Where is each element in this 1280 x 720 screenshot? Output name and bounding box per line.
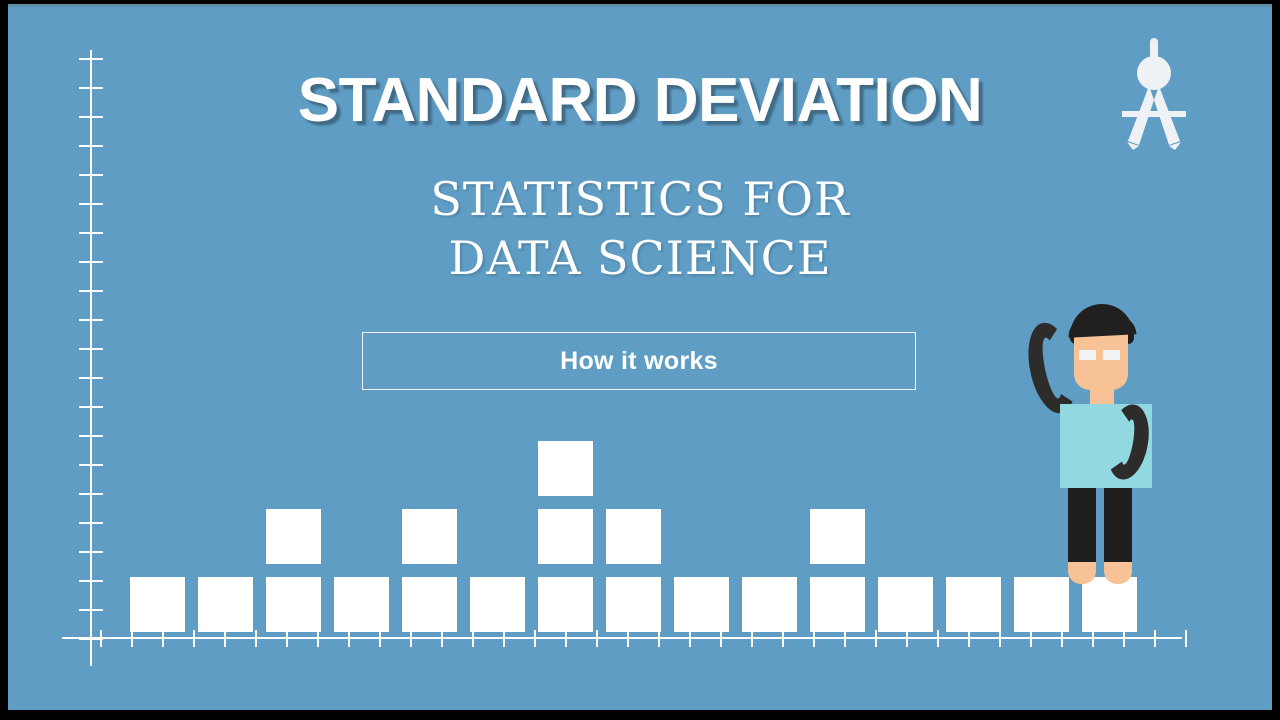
x-axis-tick [968,630,970,647]
y-axis-line [90,50,92,666]
x-axis-tick [875,630,877,647]
histogram-unit-block [470,577,525,632]
page-title: STANDARD DEVIATION [8,70,1272,132]
eye-right [1103,350,1120,360]
x-axis-tick [1185,630,1187,647]
histogram-unit-block [402,509,457,564]
x-axis-tick [1123,630,1125,647]
how-it-works-box[interactable]: How it works [362,332,916,390]
x-axis-tick [317,630,319,647]
x-axis-tick [472,630,474,647]
y-axis-tick [79,522,103,524]
x-axis-tick [999,630,1001,647]
x-axis-tick [689,630,691,647]
subtitle-line-1: STATISTICS FOR [8,170,1272,229]
letterbox-top [0,0,1280,4]
leg-right [1104,484,1132,566]
y-axis-tick [79,290,103,292]
histogram-unit-block [538,441,593,496]
x-axis-tick [100,630,102,647]
letterbox-right [1272,0,1280,720]
x-axis-tick [441,630,443,647]
histogram-unit-block [810,577,865,632]
y-axis-tick [79,464,103,466]
x-axis-tick [937,630,939,647]
foot-left [1068,562,1096,584]
histogram-unit-block [878,577,933,632]
histogram-unit-block [606,577,661,632]
slide-canvas: STANDARD DEVIATION STATISTICS FOR DATA S… [8,4,1272,710]
x-axis-tick [627,630,629,647]
x-axis-tick [286,630,288,647]
y-axis-tick [79,551,103,553]
x-axis-tick [844,630,846,647]
histogram-unit-block [606,509,661,564]
x-axis-tick [906,630,908,647]
x-axis-tick [1092,630,1094,647]
x-axis-tick [1154,630,1156,647]
x-axis-tick [503,630,505,647]
y-axis-tick [79,58,103,60]
x-axis-tick [348,630,350,647]
x-axis-tick [720,630,722,647]
subtitle-line-2: DATA SCIENCE [8,229,1272,288]
histogram-unit-block [266,509,321,564]
y-axis-tick [79,609,103,611]
x-axis-tick [596,630,598,647]
y-axis-tick [79,493,103,495]
x-axis-tick [131,630,133,647]
y-axis-tick [79,435,103,437]
x-axis-tick [658,630,660,647]
x-axis-tick [162,630,164,647]
letterbox-left [0,0,8,720]
leg-left [1068,484,1096,566]
y-axis-tick [79,377,103,379]
x-axis-tick [782,630,784,647]
x-axis-tick [534,630,536,647]
standing-person-illustration [1024,304,1184,584]
x-axis-tick [255,630,257,647]
x-axis-tick [813,630,815,647]
x-axis-line [62,637,1182,639]
histogram-unit-block [742,577,797,632]
x-axis-tick [224,630,226,647]
x-axis-tick [410,630,412,647]
histogram-unit-block [810,509,865,564]
eye-left [1079,350,1096,360]
x-axis-tick [379,630,381,647]
y-axis-tick [79,580,103,582]
histogram-unit-block [130,577,185,632]
foot-right [1104,562,1132,584]
histogram-unit-block [946,577,1001,632]
x-axis-tick [1030,630,1032,647]
x-axis-tick [1061,630,1063,647]
y-axis-tick [79,406,103,408]
video-slide-frame: STANDARD DEVIATION STATISTICS FOR DATA S… [0,0,1280,720]
histogram-unit-block [198,577,253,632]
how-it-works-label: How it works [560,347,718,376]
x-axis-tick [193,630,195,647]
histogram-unit-block [538,577,593,632]
y-axis-tick [79,348,103,350]
subtitle: STATISTICS FOR DATA SCIENCE [8,170,1272,288]
x-axis-tick [565,630,567,647]
histogram-unit-block [334,577,389,632]
histogram-unit-block [1082,577,1137,632]
histogram-unit-block [674,577,729,632]
histogram-unit-block [1014,577,1069,632]
letterbox-bottom [0,710,1280,720]
x-axis-tick [751,630,753,647]
histogram-unit-block [266,577,321,632]
histogram-unit-block [538,509,593,564]
histogram-unit-block [402,577,457,632]
y-axis-tick [79,319,103,321]
y-axis-tick [79,145,103,147]
